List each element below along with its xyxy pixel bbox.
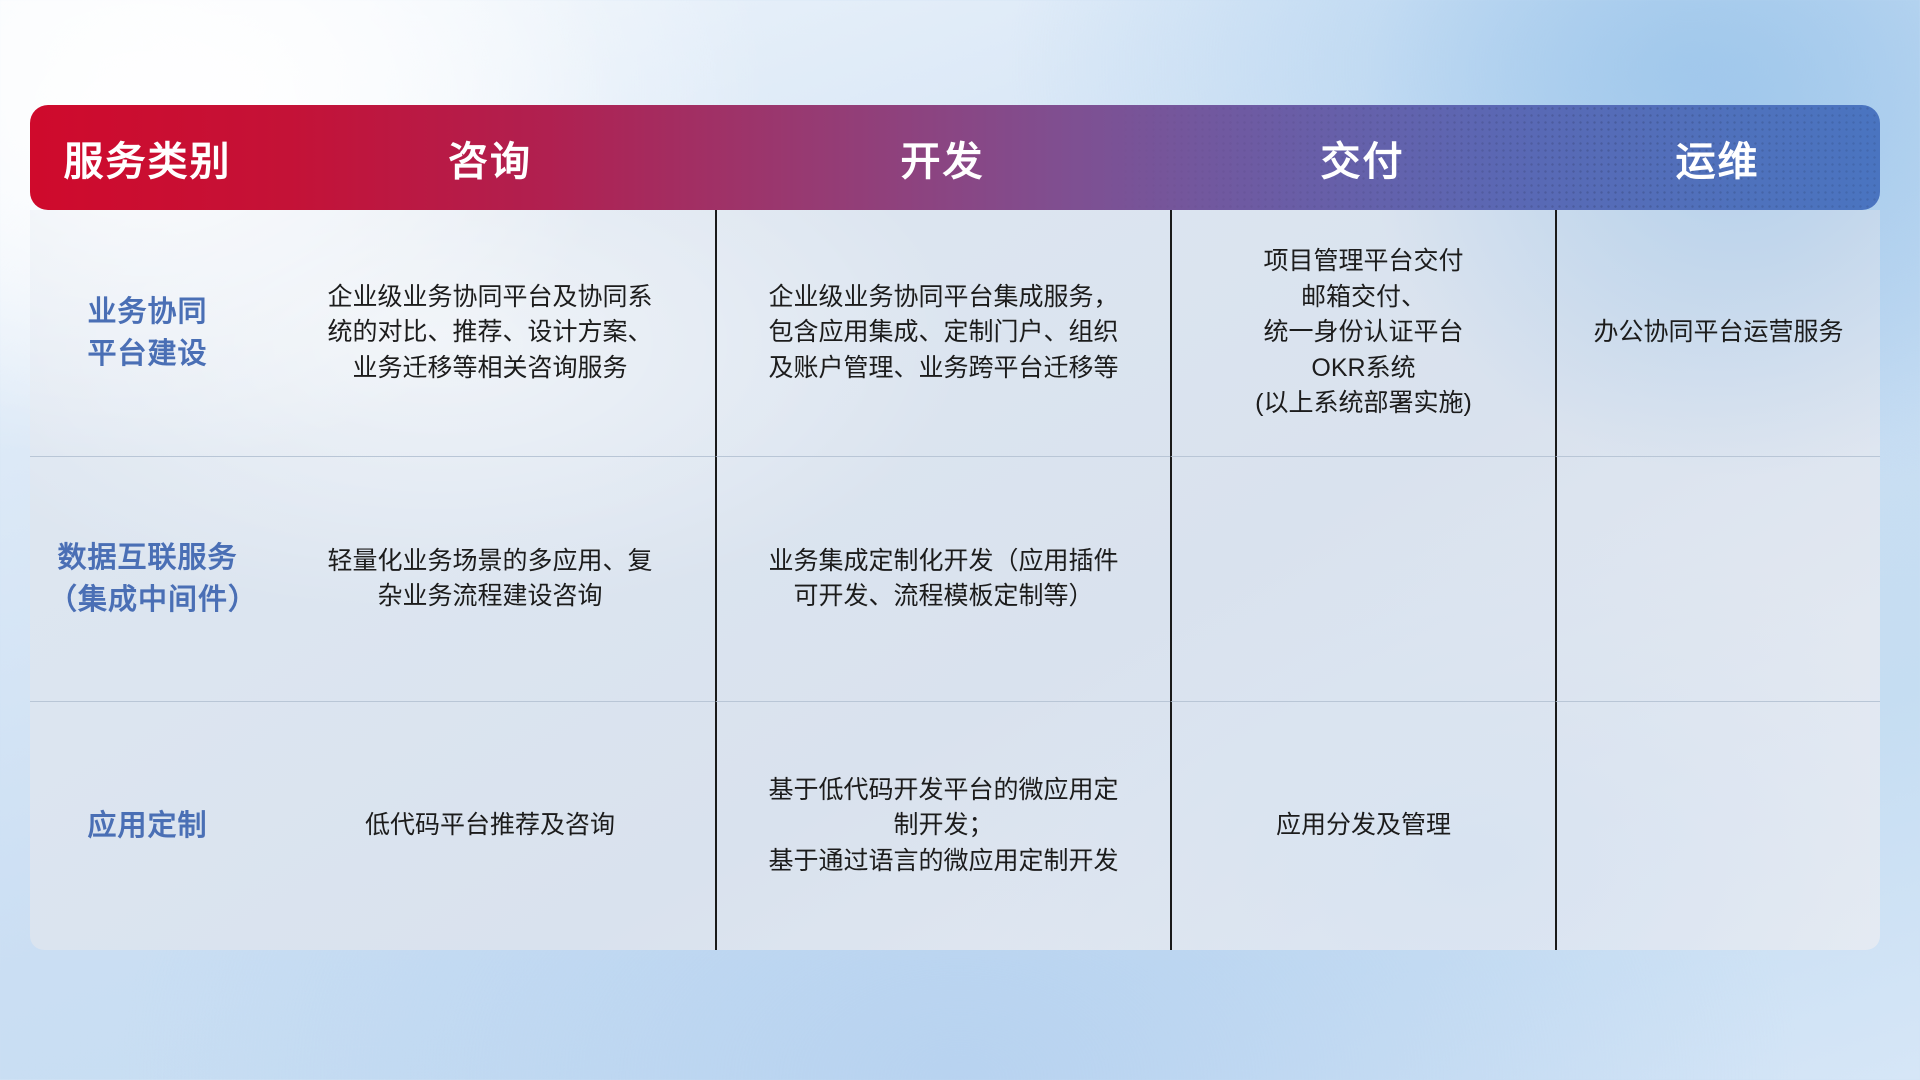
table-header: 服务类别 咨询 开发 交付 运维 [30,105,1880,210]
cell-delivery-row1: 项目管理平台交付 邮箱交付、 统一身份认证平台 OKR系统 (以上系统部署实施) [1170,210,1555,456]
column-header-label-development: 开发 [715,129,1170,187]
cell-operations-row2 [1555,456,1880,701]
table-row: 应用定制 低代码平台推荐及咨询 基于低代码开发平台的微应用定 制开发； 基于通过… [30,701,1880,950]
cell-delivery-row3: 应用分发及管理 [1170,701,1555,950]
cell-category-row1: 业务协同 平台建设 [30,210,265,456]
service-matrix-table: 服务类别 咨询 开发 交付 运维 业务协同 平台建设 [30,105,1880,950]
cell-development-row2: 业务集成定制化开发（应用插件 可开发、流程模板定制等） [715,456,1170,701]
table-row: 业务协同 平台建设 企业级业务协同平台及协同系 统的对比、推荐、设计方案、 业务… [30,210,1880,456]
column-header-delivery[interactable]: 交付 [1170,105,1555,210]
column-header-development[interactable]: 开发 [715,105,1170,210]
table-row: 数据互联服务 （集成中间件） 轻量化业务场景的多应用、复 杂业务流程建设咨询 业… [30,456,1880,701]
service-matrix-table-container: 服务类别 咨询 开发 交付 运维 业务协同 平台建设 [30,105,1880,950]
table-body: 业务协同 平台建设 企业级业务协同平台及协同系 统的对比、推荐、设计方案、 业务… [30,210,1880,950]
cell-operations-row1: 办公协同平台运营服务 [1555,210,1880,456]
header-row: 服务类别 咨询 开发 交付 运维 [30,105,1880,210]
column-header-operations[interactable]: 运维 [1555,105,1880,210]
cell-consulting-row1: 企业级业务协同平台及协同系 统的对比、推荐、设计方案、 业务迁移等相关咨询服务 [265,210,715,456]
cell-category-row3: 应用定制 [30,701,265,950]
column-header-label-operations: 运维 [1555,129,1880,187]
column-header-consulting[interactable]: 咨询 [265,105,715,210]
column-header-label-delivery: 交付 [1170,129,1555,187]
cell-consulting-row3: 低代码平台推荐及咨询 [265,701,715,950]
cell-category-row2: 数据互联服务 （集成中间件） [30,456,265,701]
column-header-category[interactable]: 服务类别 [30,105,265,210]
column-header-label-category: 服务类别 [30,129,265,187]
cell-operations-row3 [1555,701,1880,950]
cell-consulting-row2: 轻量化业务场景的多应用、复 杂业务流程建设咨询 [265,456,715,701]
cell-development-row3: 基于低代码开发平台的微应用定 制开发； 基于通过语言的微应用定制开发 [715,701,1170,950]
cell-delivery-row2 [1170,456,1555,701]
column-header-label-consulting: 咨询 [265,129,715,187]
cell-development-row1: 企业级业务协同平台集成服务， 包含应用集成、定制门户、组织 及账户管理、业务跨平… [715,210,1170,456]
